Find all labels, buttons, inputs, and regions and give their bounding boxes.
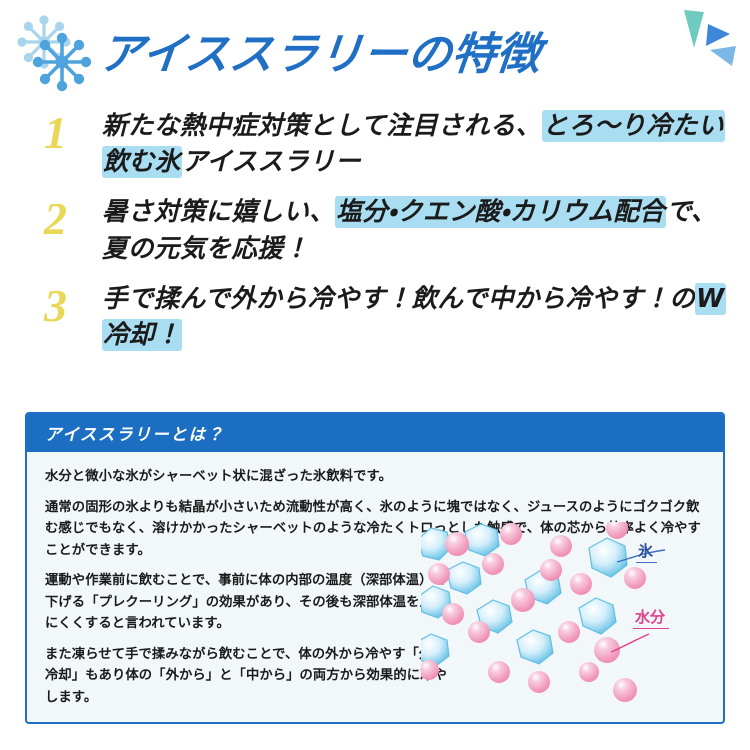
feature-item: 3 手で揉んで外から冷やす！飲んで中から冷やす！のW冷却！ [0,281,750,353]
info-paragraph: 通常の固形の氷よりも結晶が小さいため流動性が高く、氷のように塊ではなく、ジュース… [45,497,707,562]
feature-number: 1 [44,108,102,156]
feature-text: 暑さ対策に嬉しい、塩分・クエン酸・カリウム配合で、夏の元気を応援！ [102,194,728,266]
feature-text: 手で揉んで外から冷やす！飲んで中から冷やす！のW冷却！ [102,281,728,353]
feature-segment: 新たな熱中症対策として注目される、 [102,111,542,141]
page-title: アイススラリーの特徴 [97,18,545,82]
feature-number: 3 [44,281,102,329]
feature-segment-highlight: 塩分・クエン酸・カリウム配合 [335,196,666,228]
water-leader-line [611,634,649,652]
feature-list: 1 新たな熱中症対策として注目される、とろ〜り冷たい飲む氷アイススラリー 2 暑… [0,100,750,353]
info-panel-header: アイススラリーとは？ [27,414,723,452]
feature-segment: 暑さ対策に嬉しい、 [102,197,335,227]
triangle-decoration-icon [670,2,742,74]
info-paragraph: 水分と微小な氷がシャーベット状に混ざった氷飲料です。 [45,466,707,488]
info-paragraph: 運動や作業前に飲むことで、事前に体の内部の温度（深部体温）を下げる「プレクーリン… [45,570,455,635]
feature-text: 新たな熱中症対策として注目される、とろ〜り冷たい飲む氷アイススラリー [102,108,728,180]
info-paragraph: また凍らせて手で揉みながら飲むことで、体の外から冷やす「外部冷却」もあり体の「外… [45,644,455,709]
info-panel: アイススラリーとは？ 水分と微小な氷がシャーベット状に混ざった氷飲料です。 通常… [25,412,725,724]
info-panel-body: 水分と微小な氷がシャーベット状に混ざった氷飲料です。 通常の固形の氷よりも結晶が… [27,452,723,722]
feature-item: 1 新たな熱中症対策として注目される、とろ〜り冷たい飲む氷アイススラリー [0,108,750,180]
feature-number: 2 [44,194,102,242]
snowflake-icon [14,12,94,92]
feature-item: 2 暑さ対策に嬉しい、塩分・クエン酸・カリウム配合で、夏の元気を応援！ [0,194,750,266]
page-header: アイススラリーの特徴 [0,0,750,100]
feature-segment: アイススラリー [182,147,361,177]
feature-segment: 手で揉んで外から冷やす！飲んで中から冷やす！の [102,284,695,314]
info-panel-title: アイススラリーとは？ [45,421,225,445]
water-label: 水分 [633,606,669,629]
